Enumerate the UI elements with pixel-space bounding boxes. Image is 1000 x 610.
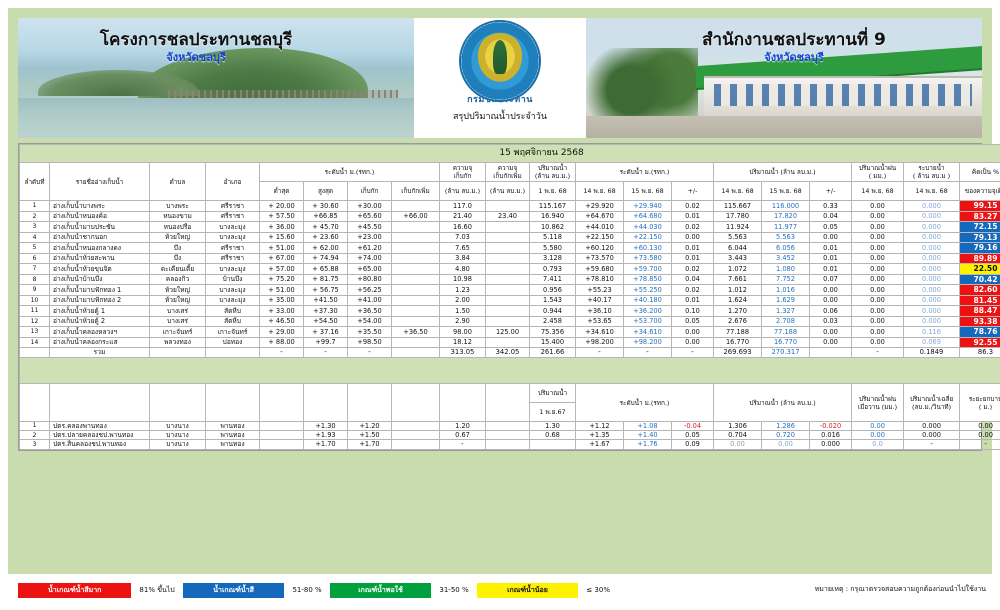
tambon: บางพระ bbox=[150, 201, 206, 211]
level-d15: +1.76 bbox=[624, 440, 672, 449]
level-store: +45.50 bbox=[348, 222, 392, 232]
volume-nov1: 7.411 bbox=[530, 274, 576, 284]
level-store: +1.50 bbox=[348, 431, 392, 440]
level-store-add bbox=[392, 422, 440, 431]
volume-diff: 0.04 bbox=[810, 211, 852, 221]
level-min: + 51.00 bbox=[260, 243, 304, 253]
reservoir-name: อ่างเก็บน้ำชากนอก bbox=[50, 232, 150, 242]
volume-nov1: 16.940 bbox=[530, 211, 576, 221]
th2-blank5 bbox=[440, 384, 486, 422]
pct-old: 82.60 bbox=[960, 285, 1000, 295]
amphoe: ศรีราชา bbox=[206, 211, 260, 221]
level-d15: +73.580 bbox=[624, 253, 672, 263]
th2-blank6 bbox=[486, 384, 530, 422]
banner-left-photo: โครงการชลประทานชลบุรี จังหวัดชลบุรี bbox=[18, 18, 414, 138]
volume-diff: 0.07 bbox=[810, 274, 852, 284]
volume-d15: 1.629 bbox=[762, 295, 810, 305]
level-d15: +53.700 bbox=[624, 316, 672, 326]
level-diff: 0.01 bbox=[672, 243, 714, 253]
reservoir-name: อ่างเก็บน้ำบางพระ bbox=[50, 201, 150, 211]
tambon: บางนาง bbox=[150, 440, 206, 449]
capacity-store: 16.60 bbox=[440, 222, 486, 232]
level-min: + 33.00 bbox=[260, 306, 304, 316]
total-max: - bbox=[304, 348, 348, 357]
volume-d15: 7.752 bbox=[762, 274, 810, 284]
volume-nov1: 75.356 bbox=[530, 327, 576, 337]
level-min bbox=[260, 431, 304, 440]
level-diff: 0.10 bbox=[672, 306, 714, 316]
reservoir-table: 15 พฤศจิกายน 2568 ลำดับที่ รายชื่ออ่างเก… bbox=[19, 144, 1000, 383]
level-d15: +1.08 bbox=[624, 422, 672, 431]
capacity-store: 7.65 bbox=[440, 243, 486, 253]
rainfall: 0.00 bbox=[852, 222, 904, 232]
level-store: +74.00 bbox=[348, 253, 392, 263]
level-min: + 57.50 bbox=[260, 211, 304, 221]
level-min: + 15.60 bbox=[260, 232, 304, 242]
report-date-bar: 15 พฤศจิกายน 2568 bbox=[20, 145, 1000, 163]
total-row: รวม - - - 313.05 342.05 261.66 - - - 269… bbox=[20, 348, 1000, 357]
rainfall: 0.00 bbox=[852, 243, 904, 253]
amphoe: บางละมุง bbox=[206, 295, 260, 305]
tambon: บึง bbox=[150, 253, 206, 263]
reservoir-name: อ่างเก็บน้ำห้วยตู้ 1 bbox=[50, 306, 150, 316]
level-min: + 75.20 bbox=[260, 274, 304, 284]
level-max: +99.7 bbox=[304, 337, 348, 347]
drainage: 0.000 bbox=[904, 316, 960, 326]
volume-nov1: 0.793 bbox=[530, 264, 576, 274]
volume-d14: 1.072 bbox=[714, 264, 762, 274]
level-min: + 29.00 bbox=[260, 327, 304, 337]
row-index: 10 bbox=[20, 295, 50, 305]
level-d15: +1.40 bbox=[624, 431, 672, 440]
capacity-store: 18.12 bbox=[440, 337, 486, 347]
tambon: หนองขาม bbox=[150, 211, 206, 221]
reservoir-name: อ่างเก็บน้ำห้วยขุนจิต bbox=[50, 264, 150, 274]
volume-diff: 0.01 bbox=[810, 264, 852, 274]
volume-d14: 2.676 bbox=[714, 316, 762, 326]
drainage: 0.000 bbox=[904, 211, 960, 221]
level-store-add: +36.50 bbox=[392, 327, 440, 337]
level-d15: +40.180 bbox=[624, 295, 672, 305]
th-level-store: เก็บกัก bbox=[348, 182, 392, 201]
level-d14: +1.12 bbox=[576, 422, 624, 431]
water-shape bbox=[18, 98, 414, 138]
tambon: เกาะจันทร์ bbox=[150, 327, 206, 337]
level-max: +66.85 bbox=[304, 211, 348, 221]
table-row: 12อ่างเก็บน้ำห้วยตู้ 2บางเสร่สัตหีบ+ 46.… bbox=[20, 316, 1000, 326]
th-level-group: ระดับน้ำ ม.(รทก.) bbox=[260, 163, 440, 182]
level-store-add bbox=[392, 431, 440, 440]
row-index: 6 bbox=[20, 253, 50, 263]
level-max: +1.70 bbox=[304, 440, 348, 449]
volume-d14: 115.667 bbox=[714, 201, 762, 211]
volume-d15: 16.770 bbox=[762, 337, 810, 347]
blank bbox=[486, 422, 530, 431]
level-store: +98.50 bbox=[348, 337, 392, 347]
ground-shape bbox=[586, 116, 982, 138]
rainfall: 0.00 bbox=[852, 327, 904, 337]
row-index: 14 bbox=[20, 337, 50, 347]
section-spacer bbox=[20, 357, 1000, 383]
th2-tambon bbox=[150, 384, 206, 422]
level-min: + 88.00 bbox=[260, 337, 304, 347]
level-d14: +36.10 bbox=[576, 306, 624, 316]
level-store-add bbox=[392, 232, 440, 242]
royal-irrigation-seal-icon bbox=[459, 20, 541, 102]
th-level-diff: +/- bbox=[672, 182, 714, 201]
capacity-store: 7.03 bbox=[440, 232, 486, 242]
th2-span: ระยะยกบาน( ม.) bbox=[960, 384, 1000, 422]
total-level-d15: - bbox=[624, 348, 672, 357]
reservoir-name: อ่างเก็บน้ำมาบฟักทอง 1 bbox=[50, 285, 150, 295]
row-index: 11 bbox=[20, 306, 50, 316]
level-store-add bbox=[392, 274, 440, 284]
th-tambon: ตำบล bbox=[150, 163, 206, 201]
level-max: +37.30 bbox=[304, 306, 348, 316]
level-max: + 74.94 bbox=[304, 253, 348, 263]
level-store: +65.00 bbox=[348, 264, 392, 274]
level-store-add bbox=[392, 285, 440, 295]
th-vol-diff: +/- bbox=[810, 182, 852, 201]
level-store-add bbox=[392, 253, 440, 263]
drainage: 0.000 bbox=[904, 274, 960, 284]
rainfall: 0.00 bbox=[852, 422, 904, 431]
level-d14: +22.150 bbox=[576, 232, 624, 242]
station-name: ปตร.สิ้นคลองชป.พานทอง bbox=[50, 440, 150, 449]
row-index: 2 bbox=[20, 431, 50, 440]
level-diff: -0.04 bbox=[672, 422, 714, 431]
total-label: รวม bbox=[50, 348, 150, 357]
windows-shape bbox=[714, 84, 972, 106]
amphoe: พานทอง bbox=[206, 422, 260, 431]
pct-old: 78.76 bbox=[960, 327, 1000, 337]
th-vol-nov1-date: 1 พ.ย. 68 bbox=[530, 182, 576, 201]
volume-nov1: 0.68 bbox=[530, 431, 576, 440]
volume-d15: 5.563 bbox=[762, 232, 810, 242]
level-max: + 30.60 bbox=[304, 201, 348, 211]
gate-span: - bbox=[960, 440, 1000, 449]
gate-span: 0.00 bbox=[960, 431, 1000, 440]
total-drain: 0.1849 bbox=[904, 348, 960, 357]
capacity-add bbox=[486, 316, 530, 326]
table-row: 8อ่างเก็บน้ำบ้านบึงคลองกิ่วบ้านบึง+ 75.2… bbox=[20, 274, 1000, 284]
level-store: +41.00 bbox=[348, 295, 392, 305]
th2-vol-nov1-date: 1 พ.ย.67 bbox=[530, 403, 576, 422]
level-store-add bbox=[392, 306, 440, 316]
volume-diff: 0.05 bbox=[810, 222, 852, 232]
level-d15: +98.200 bbox=[624, 337, 672, 347]
volume-d15: 0.00 bbox=[762, 440, 810, 449]
th2-blank4 bbox=[392, 384, 440, 422]
level-store-add bbox=[392, 337, 440, 347]
rainfall: 0.00 bbox=[852, 274, 904, 284]
level-max: +54.50 bbox=[304, 316, 348, 326]
level-d14: +55.23 bbox=[576, 285, 624, 295]
table-row: 3อ่างเก็บน้ำมาบประชันหนองปรือบางละมุง+ 3… bbox=[20, 222, 1000, 232]
total-vol-d15: 270.317 bbox=[762, 348, 810, 357]
reservoir-name: อ่างเก็บน้ำห้วยตู้ 2 bbox=[50, 316, 150, 326]
department-logo-block: กรมชลประทาน สรุปปริมาณน้ำประจำวัน bbox=[414, 18, 586, 138]
pct-old: 93.38 bbox=[960, 316, 1000, 326]
volume-d14: 77.188 bbox=[714, 327, 762, 337]
rainfall: 0.0 bbox=[852, 440, 904, 449]
legend-swatch-green: เกณฑ์น้ำพอใช้ bbox=[330, 583, 432, 598]
volume-nov1: 115.167 bbox=[530, 201, 576, 211]
volume-d14: 5.563 bbox=[714, 232, 762, 242]
level-diff: 0.01 bbox=[672, 295, 714, 305]
level-store-add bbox=[392, 222, 440, 232]
volume-d14: 1.624 bbox=[714, 295, 762, 305]
capacity-add bbox=[486, 232, 530, 242]
tambon: ตะเคียนเตี้ย bbox=[150, 264, 206, 274]
reservoir-name: อ่างเก็บน้ำคลองกระแส bbox=[50, 337, 150, 347]
table-row: 2ปตร.ปลายคลองชป.พานทองบางนางพานทอง+1.93+… bbox=[20, 431, 1000, 440]
level-max: + 23.60 bbox=[304, 232, 348, 242]
capacity-add: 125.00 bbox=[486, 327, 530, 337]
volume-diff: 0.016 bbox=[810, 431, 852, 440]
pct-old: 79.16 bbox=[960, 243, 1000, 253]
level-min: + 51.00 bbox=[260, 285, 304, 295]
capacity-store: 4.80 bbox=[440, 264, 486, 274]
volume-d15: 1.016 bbox=[762, 285, 810, 295]
level-d15: +44.030 bbox=[624, 222, 672, 232]
capacity-store: 3.84 bbox=[440, 253, 486, 263]
volume-d15: 77.188 bbox=[762, 327, 810, 337]
banner-row: โครงการชลประทานชลบุรี จังหวัดชลบุรี กรมช… bbox=[18, 18, 982, 138]
level-store: +80.80 bbox=[348, 274, 392, 284]
th-capacity-add: ความจุเก็บกักเพิ่ม bbox=[486, 163, 530, 182]
level-store-add bbox=[392, 264, 440, 274]
pct-old: 70.42 bbox=[960, 274, 1000, 284]
level-d15: +59.700 bbox=[624, 264, 672, 274]
th2-vol-nov1: ปริมาณน้ำ bbox=[530, 384, 576, 403]
level-d14: +53.65 bbox=[576, 316, 624, 326]
th-level-max: สูงสุด bbox=[304, 182, 348, 201]
th-rain-date: 14 พ.ย. 68 bbox=[852, 182, 904, 201]
level-diff: 0.02 bbox=[672, 222, 714, 232]
amphoe: สัตหีบ bbox=[206, 306, 260, 316]
avg-flow: 0.000 bbox=[904, 431, 960, 440]
station-name: ปตร.ปลายคลองชป.พานทอง bbox=[50, 431, 150, 440]
th-pct-old: คิดเป็น % bbox=[960, 163, 1000, 182]
report-sheet: 15 พฤศจิกายน 2568 ลำดับที่ รายชื่ออ่างเก… bbox=[18, 143, 982, 451]
level-d15: +55.250 bbox=[624, 285, 672, 295]
drainage: 0.069 bbox=[904, 337, 960, 347]
level-min: + 36.00 bbox=[260, 222, 304, 232]
capacity-add bbox=[486, 243, 530, 253]
level-max: +41.50 bbox=[304, 295, 348, 305]
level-min: + 20.00 bbox=[260, 201, 304, 211]
amphoe: บางละมุง bbox=[206, 285, 260, 295]
level-store-add bbox=[392, 440, 440, 449]
total-rain: - bbox=[852, 348, 904, 357]
volume-d15: 2.708 bbox=[762, 316, 810, 326]
amphoe: บางละมุง bbox=[206, 264, 260, 274]
amphoe: บ้านบึง bbox=[206, 274, 260, 284]
tambon: พลวงทอง bbox=[150, 337, 206, 347]
table-row: 1ปตร.คลองพานทองบางนางพานทอง+1.30+1.201.2… bbox=[20, 422, 1000, 431]
blank bbox=[486, 440, 530, 449]
blank bbox=[486, 431, 530, 440]
table-row: 3ปตร.สิ้นคลองชป.พานทองบางนางพานทอง+1.70+… bbox=[20, 440, 1000, 449]
level-d14: +44.010 bbox=[576, 222, 624, 232]
th2-blank2 bbox=[304, 384, 348, 422]
capacity-store: 2.00 bbox=[440, 295, 486, 305]
drainage: 0.116 bbox=[904, 327, 960, 337]
level-diff: 0.02 bbox=[672, 201, 714, 211]
reservoir-name: อ่างเก็บน้ำห้วยสะพาน bbox=[50, 253, 150, 263]
tambon: ห้วยใหญ่ bbox=[150, 285, 206, 295]
total-store: - bbox=[348, 348, 392, 357]
drainage: 0.000 bbox=[904, 306, 960, 316]
level-min: + 57.00 bbox=[260, 264, 304, 274]
level-store-add bbox=[392, 243, 440, 253]
reservoir-name: อ่างเก็บน้ำมาบประชัน bbox=[50, 222, 150, 232]
level-min bbox=[260, 422, 304, 431]
legend-range-yellow: ≤ 30% bbox=[578, 586, 618, 594]
th2-vol-group: ปริมาณน้ำ (ล้าน ลบ.ม.) bbox=[714, 384, 852, 422]
level-d15: +22.150 bbox=[624, 232, 672, 242]
capacity: 0.67 bbox=[440, 431, 486, 440]
level-d14: +60.120 bbox=[576, 243, 624, 253]
total-level-d14: - bbox=[576, 348, 624, 357]
total-vol-nov1: 261.66 bbox=[530, 348, 576, 357]
tambon: ห้วยใหญ่ bbox=[150, 232, 206, 242]
gate-header-row-1: ปริมาณน้ำ ระดับน้ำ ม.(รทก.) ปริมาณน้ำ (ล… bbox=[20, 384, 1000, 403]
volume-diff: 0.01 bbox=[810, 253, 852, 263]
volume-diff: 0.00 bbox=[810, 285, 852, 295]
th2-rain: ปริมาณน้ำฝนเมื่อวาน (มม.) bbox=[852, 384, 904, 422]
th-cap-store-unit: (ล้าน ลบ.ม.) bbox=[440, 182, 486, 201]
table-row: 9อ่างเก็บน้ำมาบฟักทอง 1ห้วยใหญ่บางละมุง+… bbox=[20, 285, 1000, 295]
banner-right-photo: สำนักงานชลประทานที่ 9 จังหวัดชลบุรี bbox=[586, 18, 982, 138]
station-name: ปตร.คลองพานทอง bbox=[50, 422, 150, 431]
report-page: โครงการชลประทานชลบุรี จังหวัดชลบุรี กรมช… bbox=[0, 0, 1000, 610]
volume-d15: 17.820 bbox=[762, 211, 810, 221]
tambon: หนองปรือ bbox=[150, 222, 206, 232]
level-diff: 0.05 bbox=[672, 431, 714, 440]
rainfall: 0.00 bbox=[852, 295, 904, 305]
capacity-add bbox=[486, 264, 530, 274]
tambon: คลองกิ่ว bbox=[150, 274, 206, 284]
row-index: 3 bbox=[20, 440, 50, 449]
row-index: 12 bbox=[20, 316, 50, 326]
th-level-store-add: เก็บกักเพิ่ม bbox=[392, 182, 440, 201]
th-level-d15: 15 พ.ย. 68 bbox=[624, 182, 672, 201]
volume-nov1: 1.543 bbox=[530, 295, 576, 305]
tambon: บึง bbox=[150, 243, 206, 253]
pct-old: 88.47 bbox=[960, 306, 1000, 316]
volume-d15: 6.056 bbox=[762, 243, 810, 253]
th2-station bbox=[50, 384, 150, 422]
volume-d14: 1.012 bbox=[714, 285, 762, 295]
capacity-add: 23.40 bbox=[486, 211, 530, 221]
total-store-add bbox=[392, 348, 440, 357]
legend-range-green: 31-50 % bbox=[431, 586, 476, 594]
volume-diff: 0.00 bbox=[810, 232, 852, 242]
drainage: 0.000 bbox=[904, 295, 960, 305]
capacity-add bbox=[486, 337, 530, 347]
volume-diff: 0.00 bbox=[810, 295, 852, 305]
volume-nov1: 10.862 bbox=[530, 222, 576, 232]
table-row: 5อ่างเก็บน้ำหนองกลางดงบึงศรีราชา+ 51.00+… bbox=[20, 243, 1000, 253]
capacity-store: 2.90 bbox=[440, 316, 486, 326]
reservoir-name: อ่างเก็บน้ำคลองหลวงฯ bbox=[50, 327, 150, 337]
level-max: + 62.00 bbox=[304, 243, 348, 253]
th-drain-date: 14 พ.ย. 68 bbox=[904, 182, 960, 201]
level-store-add bbox=[392, 201, 440, 211]
footnote: หมายเหตุ : กรุณาตรวจสอบความถูกต้องก่อนนำ… bbox=[815, 584, 986, 595]
drainage: 0.000 bbox=[904, 201, 960, 211]
volume-d14: 0.00 bbox=[714, 440, 762, 449]
level-max: +1.93 bbox=[304, 431, 348, 440]
capacity-store: 98.00 bbox=[440, 327, 486, 337]
capacity-add bbox=[486, 222, 530, 232]
volume-nov1: 5.118 bbox=[530, 232, 576, 242]
capacity-add bbox=[486, 274, 530, 284]
level-d14: +98.200 bbox=[576, 337, 624, 347]
capacity-store: 1.23 bbox=[440, 285, 486, 295]
volume-d14: 16.770 bbox=[714, 337, 762, 347]
tambon: บางนาง bbox=[150, 422, 206, 431]
logo-caption: สรุปปริมาณน้ำประจำวัน bbox=[453, 109, 547, 123]
th2-amphoe bbox=[206, 384, 260, 422]
legend-range-blue: 51-80 % bbox=[284, 586, 329, 594]
banner-left-subtitle: จังหวัดชลบุรี bbox=[18, 48, 414, 66]
table-row: 10อ่างเก็บน้ำมาบฟักทอง 2ห้วยใหญ่บางละมุง… bbox=[20, 295, 1000, 305]
level-diff: 0.00 bbox=[672, 337, 714, 347]
amphoe: เกาะจันทร์ bbox=[206, 327, 260, 337]
rainfall: 0.00 bbox=[852, 264, 904, 274]
th-capacity-store: ความจุเก็บกัก bbox=[440, 163, 486, 182]
total-vol-diff bbox=[810, 348, 852, 357]
legend-range-red: 81% ขึ้นไป bbox=[131, 585, 182, 596]
th-rainfall: ปริมาณน้ำฝน( มม.) bbox=[852, 163, 904, 182]
level-d15: +64.680 bbox=[624, 211, 672, 221]
legend-swatch-red: น้ำเกณฑ์น้ำสีมาก bbox=[18, 583, 131, 598]
pct-old: 72.15 bbox=[960, 222, 1000, 232]
rainfall: 0.00 bbox=[852, 306, 904, 316]
tambon: บางเสร่ bbox=[150, 316, 206, 326]
table-row: 13อ่างเก็บน้ำคลองหลวงฯเกาะจันทร์เกาะจันท… bbox=[20, 327, 1000, 337]
th-drainage: ระบายน้ำ( ล้าน ลบ.ม ) bbox=[904, 163, 960, 182]
total-cap-add: 342.05 bbox=[486, 348, 530, 357]
volume-d15: 11.977 bbox=[762, 222, 810, 232]
level-d14: +1.67 bbox=[576, 440, 624, 449]
row-index: 2 bbox=[20, 211, 50, 221]
capacity-store: 10.98 bbox=[440, 274, 486, 284]
pct-old: 83.27 bbox=[960, 211, 1000, 221]
capacity-store: 117.0 bbox=[440, 201, 486, 211]
th2-index bbox=[20, 384, 50, 422]
volume-diff: 0.01 bbox=[810, 243, 852, 253]
level-diff: 0.02 bbox=[672, 264, 714, 274]
row-index: 3 bbox=[20, 222, 50, 232]
th-vol-d15: 15 พ.ย. 68 bbox=[762, 182, 810, 201]
volume-d14: 1.270 bbox=[714, 306, 762, 316]
amphoe: ศรีราชา bbox=[206, 253, 260, 263]
th-vol-d14: 14 พ.ย. 68 bbox=[714, 182, 762, 201]
gate-span: 0.00 bbox=[960, 422, 1000, 431]
volume-diff: 0.33 bbox=[810, 201, 852, 211]
volume-d15: 0.720 bbox=[762, 431, 810, 440]
level-max: +1.30 bbox=[304, 422, 348, 431]
rainfall: 0.00 bbox=[852, 337, 904, 347]
volume-diff: 0.00 bbox=[810, 337, 852, 347]
level-max: + 37.16 bbox=[304, 327, 348, 337]
rainfall: 0.00 bbox=[852, 232, 904, 242]
volume-diff: -0.020 bbox=[810, 422, 852, 431]
